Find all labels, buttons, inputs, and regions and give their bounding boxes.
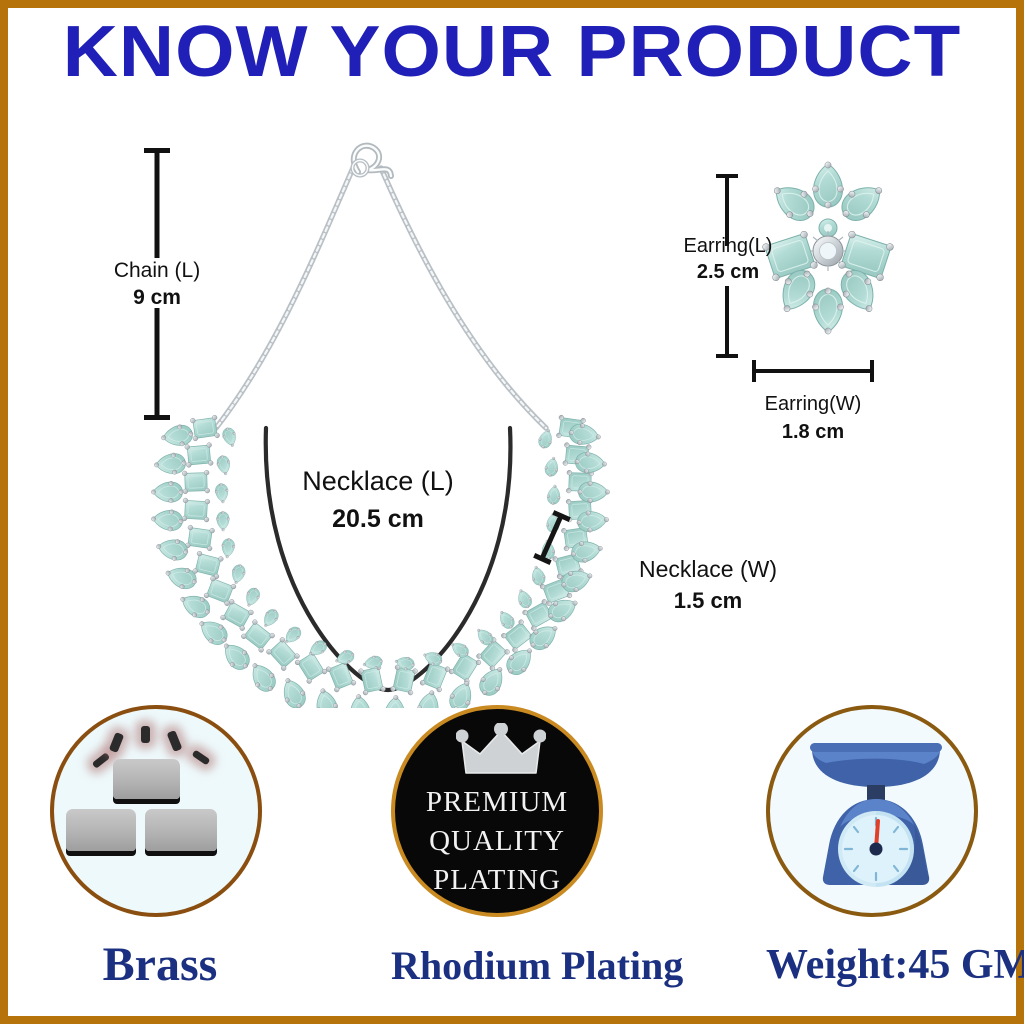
earring-width-value: 1.8 cm [738,418,888,446]
brass-label: Brass [50,937,270,993]
metal-ingot-icon [145,809,217,851]
necklace-width-label: Necklace (W) 1.5 cm [593,553,823,617]
metal-ingot-icon [113,759,180,799]
kitchen-scale-icon [796,733,956,893]
sparkle-icon [109,732,124,753]
necklace-length-label: Necklace (L) 20.5 cm [263,463,493,539]
sparkle-icon [141,726,150,743]
metal-ingot-icon [66,809,136,851]
badge-brass: Brass [50,705,270,1005]
earring-length-label-text: Earring(L) [653,233,803,259]
sparkle-icon [167,730,183,752]
premium-quality-seal: PREMIUM QUALITY PLATING [391,705,603,917]
weight-icon-circle [766,705,978,917]
page-title: KNOW YOUR PRODUCT [0,13,1024,91]
necklace-width-value: 1.5 cm [593,585,823,617]
necklace-illustration [148,128,628,708]
necklace-length-label-text: Necklace (L) [263,463,493,499]
weight-label: Weight:45 GM [766,939,986,991]
earring-length-label: Earring(L) 2.5 cm [653,233,803,285]
seal-line-quality: QUALITY [395,820,599,862]
earring-width-label-text: Earring(W) [738,390,888,418]
earring-width-label: Earring(W) 1.8 cm [738,390,888,446]
rhodium-plating-label: Rhodium Plating [391,941,611,991]
sparkle-icon [192,750,211,766]
badge-weight: Weight:45 GM [766,705,986,1005]
seal-line-premium: PREMIUM [395,781,599,823]
badge-rhodium-plating: PREMIUM QUALITY PLATING Rhodium Plating [391,705,611,1005]
infographic-page: KNOW YOUR PRODUCT Chain (L) 9 cm [0,0,1024,1024]
seal-line-plating: PLATING [395,859,599,901]
earring-length-value: 2.5 cm [653,259,803,285]
necklace-width-label-text: Necklace (W) [593,553,823,585]
earring-length-rule-bottom [716,286,738,358]
sparkle-icon [92,752,110,769]
infographic-canvas: KNOW YOUR PRODUCT Chain (L) 9 cm [8,8,1016,1016]
earring-width-rule [752,360,874,382]
necklace-length-value: 20.5 cm [263,499,493,539]
brass-icon-circle [50,705,262,917]
crown-icon [456,723,546,779]
